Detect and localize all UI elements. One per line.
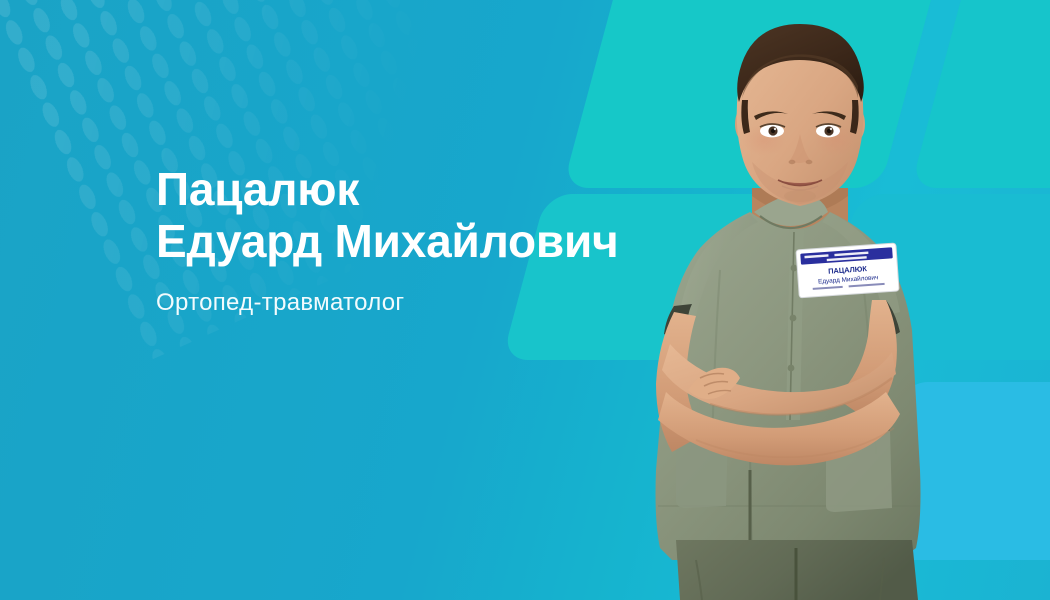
id-badge-graphic: ПАЦАЛЮК Едуард Михайлович bbox=[796, 243, 899, 298]
doctor-name: Пацалюк Едуард Михайлович bbox=[156, 164, 676, 267]
doctor-text-block: Пацалюк Едуард Михайлович Ортопед-травма… bbox=[156, 164, 676, 317]
doctor-profile-banner: ПАЦАЛЮК Едуард Михайлович Пацалюк Едуард… bbox=[0, 0, 1050, 600]
doctor-specialty: Ортопед-травматолог bbox=[156, 289, 676, 317]
